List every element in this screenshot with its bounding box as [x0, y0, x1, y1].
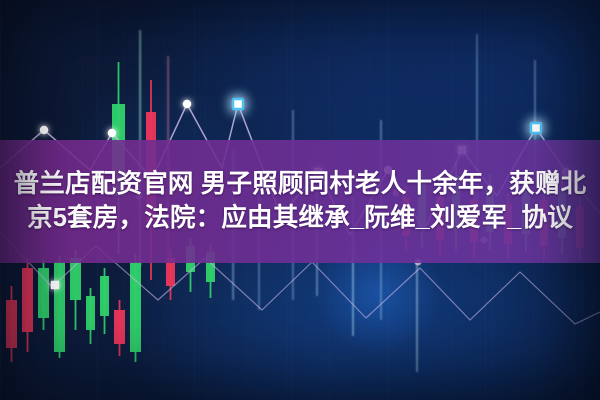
headline-band: 普兰店配资官网 男子照顾同村老人十余年，获赠北 京5套房，法院：应由其继承_阮维…	[0, 140, 600, 263]
stock-news-banner: 普兰店配资官网 男子照顾同村老人十余年，获赠北 京5套房，法院：应由其继承_阮维…	[0, 0, 600, 400]
headline-line-1: 普兰店配资官网 男子照顾同村老人十余年，获赠北	[14, 168, 587, 202]
headline-line-2: 京5套房，法院：应由其继承_阮维_刘爱军_协议	[27, 202, 573, 236]
